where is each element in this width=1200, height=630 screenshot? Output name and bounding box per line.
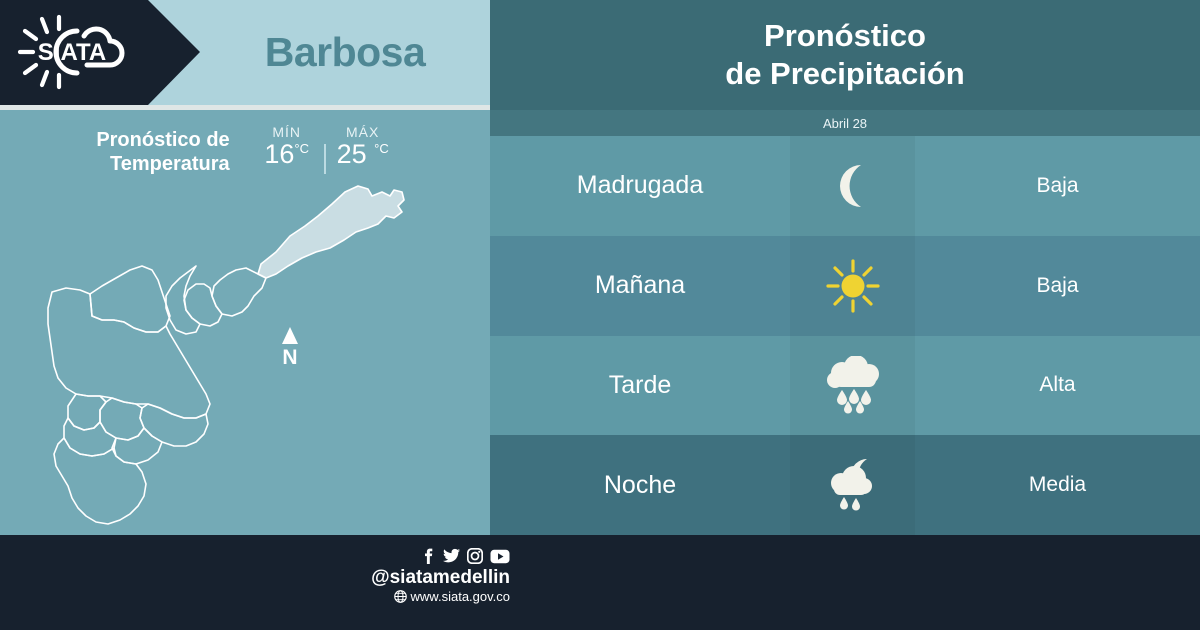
forecast-level-manana: Baja (915, 236, 1200, 336)
map-region-itagui (100, 398, 144, 440)
temperature-min: MÍN 16°C (256, 124, 318, 168)
temperature-max-unit: °C (374, 141, 389, 156)
social-block: @siatamedellin www.siata.gov.co (330, 547, 510, 619)
forecast-time-tarde: Tarde (490, 336, 790, 436)
precipitation-header: Pronóstico de Precipitación (490, 0, 1200, 110)
compass-label: N (282, 346, 297, 369)
forecast-icon-cell-manana (790, 236, 915, 336)
temperature-min-unit: °C (294, 141, 309, 156)
social-handle[interactable]: @siatamedellin (330, 567, 510, 589)
facebook-icon[interactable] (420, 548, 436, 564)
temperature-max-number: 25 (337, 139, 367, 169)
compass-north-icon: N (282, 327, 298, 369)
temperature-values: MÍN 16°C MÁX 25 °C (256, 124, 394, 174)
forecast-time-manana: Mañana (490, 236, 790, 336)
social-icons (330, 547, 510, 565)
sun-cloud-icon: SIATA (14, 14, 134, 90)
forecast-level-noche: Media (915, 435, 1200, 535)
moon-rain-cloud-icon (822, 456, 884, 514)
forecast-row-madrugada: Madrugada Baja (490, 136, 1200, 236)
forecast-row-manana: Mañana (490, 236, 1200, 336)
instagram-icon[interactable] (467, 548, 483, 564)
precipitation-panel: Pronóstico de Precipitación Abril 28 Mad… (490, 0, 1200, 535)
map-region-copacabana (184, 284, 222, 326)
forecast-row-tarde: Tarde (490, 336, 1200, 436)
youtube-icon[interactable] (490, 549, 510, 564)
forecast-level-madrugada: Baja (915, 136, 1200, 236)
precipitation-title-line1: Pronóstico (764, 18, 926, 53)
temperature-divider (324, 144, 326, 174)
map-region-caldas (54, 438, 146, 524)
forecast-icon-cell-madrugada (790, 136, 915, 236)
map-region-barbosa (258, 186, 404, 278)
precipitation-title-line2: de Precipitación (725, 56, 964, 91)
sun-icon (824, 257, 882, 315)
temperature-label-line1: Pronóstico de (96, 129, 229, 151)
forecast-icon-cell-noche (790, 435, 915, 535)
forecast-rows: Madrugada Baja Mañana (490, 136, 1200, 535)
globe-icon (394, 590, 407, 603)
temperature-min-value: 16°C (264, 140, 309, 168)
map-region-medellin (140, 404, 208, 446)
map-region-north-west (90, 266, 170, 332)
temperature-max-caption: MÁX (346, 124, 379, 140)
temperature-label: Pronóstico de Temperatura (96, 124, 229, 177)
forecast-level-tarde: Alta (915, 336, 1200, 436)
precipitation-title: Pronóstico de Precipitación (725, 17, 964, 93)
temperature-min-number: 16 (264, 139, 294, 169)
moon-icon (827, 160, 879, 212)
forecast-time-madrugada: Madrugada (490, 136, 790, 236)
siata-logo-banner: SIATA (0, 0, 200, 105)
metro-area-map: N (0, 174, 490, 534)
siata-logo-text: SIATA (38, 39, 106, 66)
temperature-max: MÁX 25 °C (332, 124, 394, 168)
infographic-root: SIATA Barbosa Pronóstico de Temperatura … (0, 0, 1200, 630)
map-svg: N (0, 174, 490, 534)
twitter-icon[interactable] (443, 548, 460, 564)
temperature-min-caption: MÍN (272, 124, 301, 140)
left-body: Pronóstico de Temperatura MÍN 16°C MÁX 2… (0, 110, 490, 535)
website-line[interactable]: www.siata.gov.co (330, 589, 510, 604)
left-header: SIATA Barbosa (0, 0, 490, 105)
forecast-row-noche: Noche Media (490, 435, 1200, 535)
footer: @siatamedellin www.siata.gov.co Con el a… (0, 535, 1200, 630)
forecast-icon-cell-tarde (790, 336, 915, 436)
temperature-max-value: 25 °C (337, 140, 389, 168)
page-title: Barbosa (200, 0, 490, 105)
precipitation-date-bar: Abril 28 (490, 110, 1200, 136)
website-url: www.siata.gov.co (411, 589, 510, 604)
temperature-label-line2: Temperatura (110, 153, 230, 175)
rain-cloud-icon (822, 356, 884, 414)
map-region-girardota (212, 268, 266, 316)
map-region-bello (166, 266, 200, 334)
map-region-sabaneta (64, 418, 116, 456)
forecast-date: Abril 28 (823, 116, 867, 131)
forecast-time-noche: Noche (490, 435, 790, 535)
